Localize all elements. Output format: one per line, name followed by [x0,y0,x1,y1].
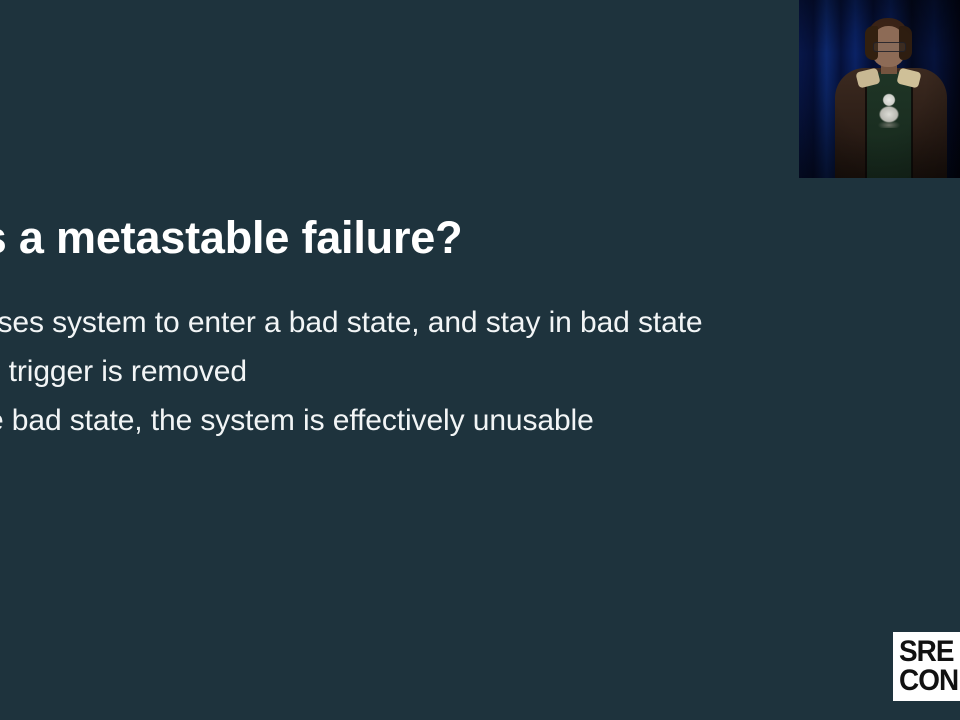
presentation-recording-frame: What is a metastable failure? Trigger ca… [0,0,960,720]
bullet-line-2: even after trigger is removed [0,347,948,396]
srecon-logo: SRE CON [893,632,960,701]
slide-bullet-list: Trigger causes system to enter a bad sta… [0,298,948,445]
srecon-logo-line-2: CON [899,666,960,695]
speaker-video-thumbnail[interactable] [799,0,960,178]
slide-title: What is a metastable failure? [0,208,948,268]
video-vignette-overlay [799,0,960,178]
slide-text-block: What is a metastable failure? Trigger ca… [0,178,948,445]
bullet-line-1: Trigger causes system to enter a bad sta… [0,298,948,347]
srecon-logo-line-1: SRE [899,637,960,666]
bullet-line-3: While in the bad state, the system is ef… [0,396,948,445]
